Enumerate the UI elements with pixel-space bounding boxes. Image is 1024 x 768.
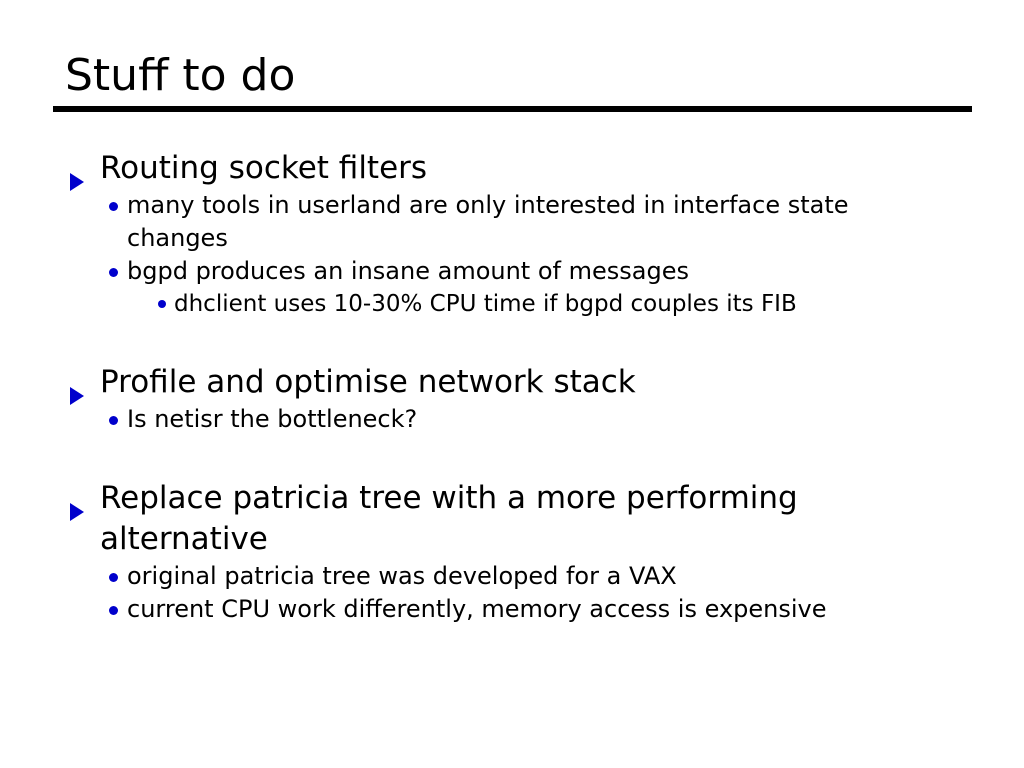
list-item: many tools in userland are only interest… [106, 189, 970, 255]
triangle-bullet-icon [70, 363, 100, 404]
dot-bullet-icon [106, 189, 127, 198]
presentation-slide: Stuff to do Routing socket filters many … [0, 0, 1024, 768]
title-underline-rule [53, 106, 972, 112]
list-item: Replace patricia tree with a more perfor… [70, 478, 970, 560]
list-item: original patricia tree was developed for… [106, 560, 970, 593]
group-spacer [70, 320, 970, 362]
bullet-level2-text: current CPU work differently, memory acc… [127, 593, 917, 626]
list-item: Is netisr the bottleneck? [106, 403, 970, 436]
list-item: Routing socket filters [70, 148, 970, 189]
dot-bullet-icon [106, 255, 127, 264]
list-item: Profile and optimise network stack [70, 362, 970, 403]
triangle-bullet-icon [70, 479, 100, 520]
bullet-level1-text: Profile and optimise network stack [100, 362, 848, 403]
dot-bullet-icon [106, 560, 127, 569]
bullet-level1-text: Replace patricia tree with a more perfor… [100, 478, 848, 560]
slide-body: Routing socket filters many tools in use… [70, 148, 970, 626]
group-spacer [70, 436, 970, 478]
bullet-level2-text: many tools in userland are only interest… [127, 189, 917, 255]
bullet-level2-text: Is netisr the bottleneck? [127, 403, 917, 436]
list-item: current CPU work differently, memory acc… [106, 593, 970, 626]
bullet-level1-text: Routing socket filters [100, 148, 848, 189]
slide-title-block: Stuff to do [53, 50, 972, 112]
triangle-bullet-icon [70, 149, 100, 190]
bullet-level2-text: bgpd produces an insane amount of messag… [127, 255, 917, 288]
dot-bullet-icon [106, 593, 127, 602]
list-item: dhclient uses 10-30% CPU time if bgpd co… [155, 288, 970, 320]
bullet-level2-text: original patricia tree was developed for… [127, 560, 917, 593]
dot-bullet-icon [155, 288, 174, 296]
list-item: bgpd produces an insane amount of messag… [106, 255, 970, 288]
dot-bullet-icon [106, 403, 127, 412]
bullet-level3-text: dhclient uses 10-30% CPU time if bgpd co… [174, 288, 970, 320]
page-title: Stuff to do [53, 50, 972, 104]
